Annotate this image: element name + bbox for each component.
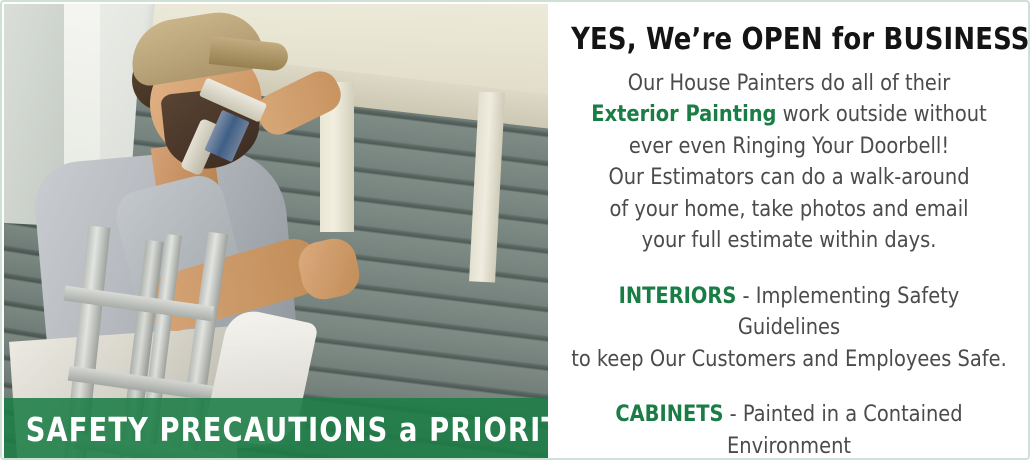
text-line: Our House Painters do all of their: [571, 68, 1007, 100]
plain-text: Our House Painters do all of their: [628, 70, 951, 96]
plain-text: to keep Our Customers and Employees Safe…: [571, 346, 1007, 372]
accent-text: CABINETS: [615, 401, 723, 427]
text-line: INTERIORS - Implementing Safety Guidelin…: [571, 281, 1007, 344]
paragraph-exterior: Our House Painters do all of theirExteri…: [571, 68, 1007, 257]
text-line: to keep Our Customers and Employees Safe…: [571, 344, 1007, 376]
accent-text: Exterior Painting: [591, 101, 776, 127]
headline: YES, We’re OPEN for BUSINESS!: [571, 24, 1007, 56]
safety-banner-text: SAFETY PRECAUTIONS a PRIORITY: [26, 410, 526, 449]
text-line: Our Estimators can do a walk-around: [571, 162, 1007, 194]
promo-card: SAFETY PRECAUTIONS a PRIORITY YES, We’re…: [0, 0, 1030, 460]
accent-text: INTERIORS: [619, 283, 737, 309]
plain-text: your full estimate within days.: [642, 227, 937, 253]
photo-shading: [4, 4, 548, 460]
message-panel: YES, We’re OPEN for BUSINESS! Our House …: [548, 4, 1030, 460]
plain-text: ever even Ringing Your Doorbell!: [629, 133, 949, 159]
plain-text: of your home, take photos and email: [609, 196, 968, 222]
body-copy: Our House Painters do all of theirExteri…: [571, 68, 1007, 460]
safety-banner: SAFETY PRECAUTIONS a PRIORITY: [4, 398, 548, 460]
text-line: of your home, take photos and email: [571, 194, 1007, 226]
text-line: Exterior Painting work outside without: [571, 99, 1007, 131]
text-line: ever even Ringing Your Doorbell!: [571, 131, 1007, 163]
plain-text: - Painted in a Contained Environment: [724, 401, 963, 459]
plain-text: - Implementing Safety Guidelines: [736, 283, 959, 341]
paragraph-cabinets: CABINETS - Painted in a Contained Enviro…: [571, 399, 1007, 460]
paragraph-interiors: INTERIORS - Implementing Safety Guidelin…: [571, 281, 1007, 376]
plain-text: Our Estimators can do a walk-around: [608, 164, 969, 190]
text-line: CABINETS - Painted in a Contained Enviro…: [571, 399, 1007, 460]
plain-text: work outside without: [776, 101, 986, 127]
painter-photo: SAFETY PRECAUTIONS a PRIORITY: [4, 4, 548, 460]
text-line: your full estimate within days.: [571, 225, 1007, 257]
